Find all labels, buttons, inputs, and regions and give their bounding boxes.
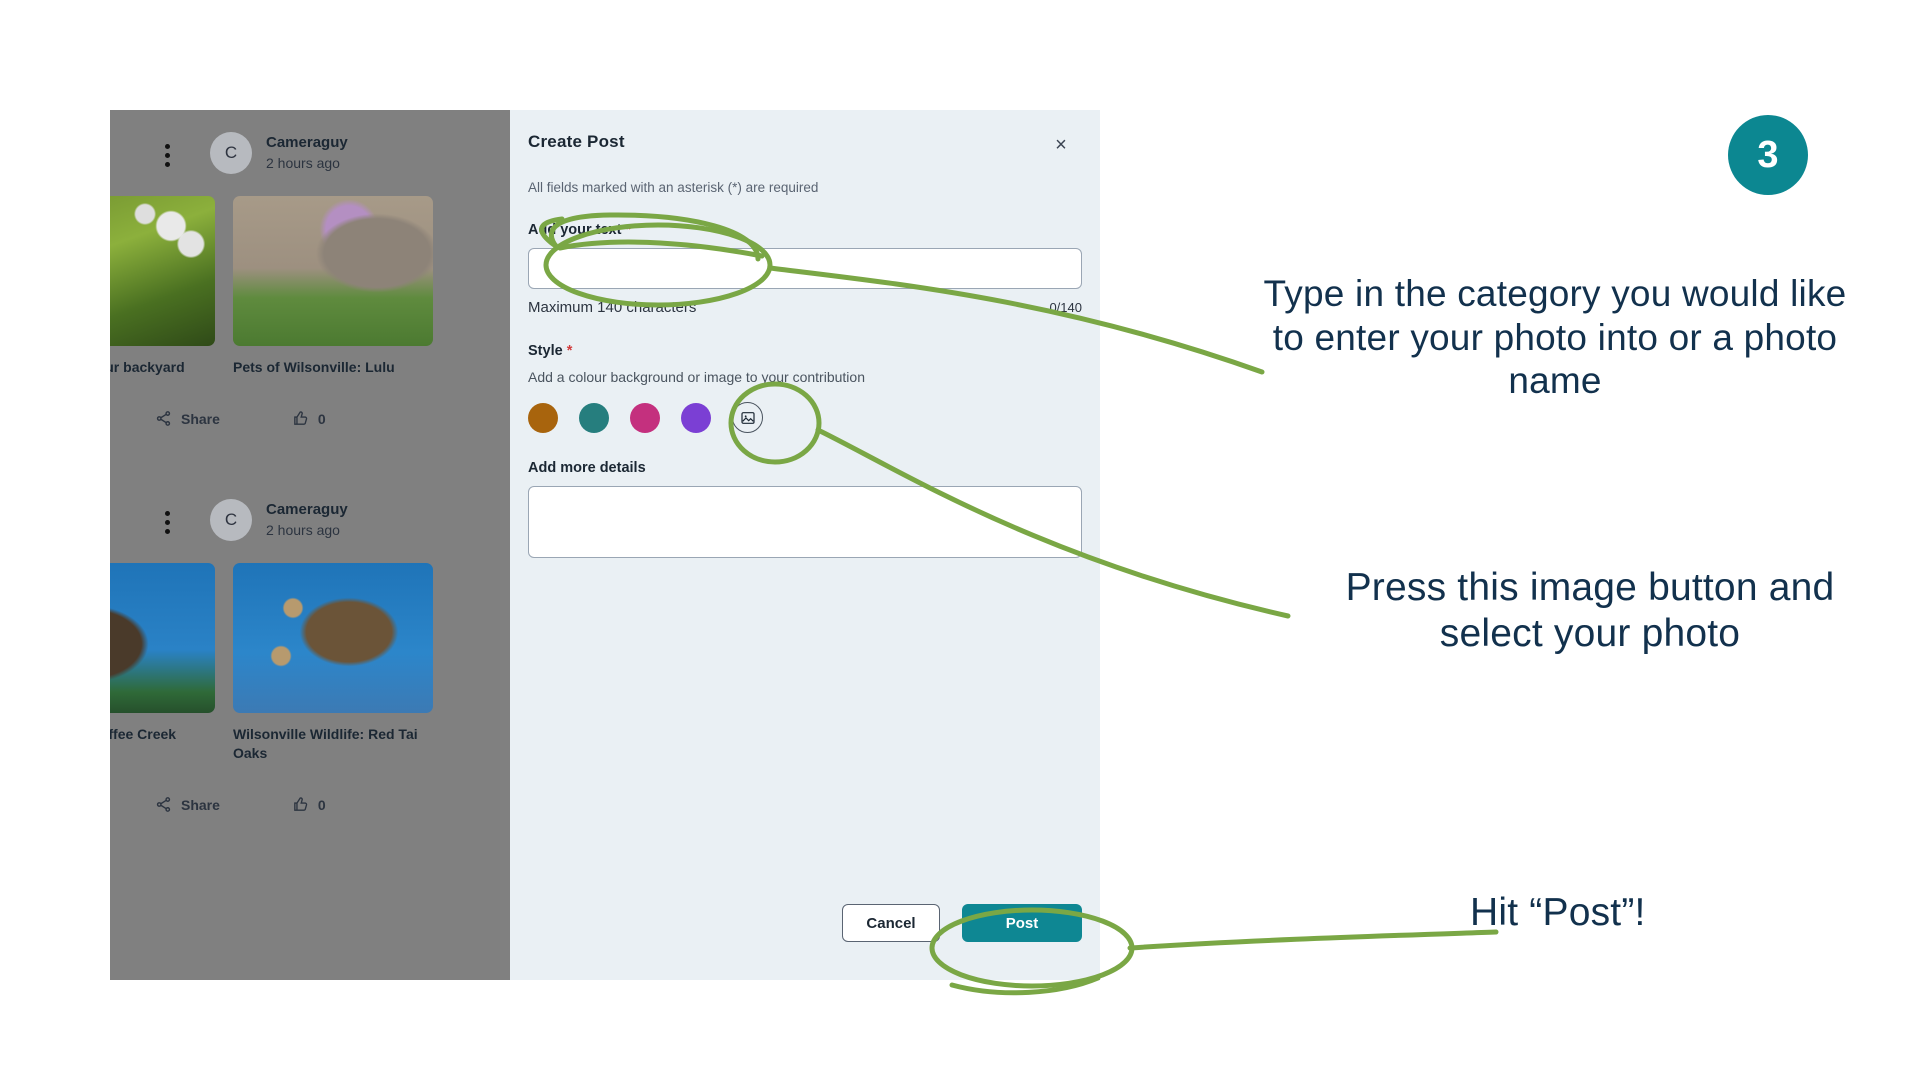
post-card-title: ers Hawk in our backyard [110, 358, 215, 377]
required-asterisk: * [625, 222, 631, 238]
text-field-label: Add your text * [528, 222, 1082, 238]
post-button[interactable]: Post [962, 904, 1082, 942]
share-button[interactable]: Share [155, 410, 220, 427]
character-counter: 0/140 [1049, 300, 1082, 315]
details-textarea[interactable] [528, 486, 1082, 558]
kebab-menu-icon[interactable] [165, 511, 170, 534]
background-feed: C Cameraguy 2 hours ago ers Hawk in our … [110, 110, 510, 980]
like-button[interactable]: 0 [292, 796, 326, 813]
text-field-label-text: Add your text [528, 222, 621, 238]
post-timestamp: 2 hours ago [266, 154, 348, 173]
kebab-menu-icon[interactable] [165, 144, 170, 167]
post-thumbnail [233, 563, 433, 713]
close-icon[interactable]: × [1048, 132, 1074, 158]
style-label-text: Style [528, 343, 563, 359]
avatar: C [210, 132, 252, 174]
swatch-teal[interactable] [579, 403, 609, 433]
post-author: Cameraguy [266, 133, 348, 153]
cancel-button[interactable]: Cancel [842, 904, 940, 942]
leader-line-3 [1130, 932, 1496, 948]
post-timestamp: 2 hours ago [266, 521, 348, 540]
post-text-input[interactable] [528, 248, 1082, 289]
post-card[interactable]: ers Hawk in our backyard [110, 196, 215, 377]
post-author: Cameraguy [266, 500, 348, 520]
like-count: 0 [318, 797, 326, 813]
image-upload-button[interactable] [732, 402, 763, 433]
style-swatch-group [528, 402, 1082, 433]
post-card[interactable]: Pets of Wilsonville: Lulu [233, 196, 433, 377]
thumbs-up-icon [292, 410, 309, 427]
share-icon [155, 410, 172, 427]
post-card[interactable]: Wilsonville Wildlife: Red Tai Oaks [233, 563, 433, 763]
post-card-title: Eagle near Coffee Creek [110, 725, 215, 744]
screenshot-root: C Cameraguy 2 hours ago ers Hawk in our … [0, 0, 1920, 1080]
like-button[interactable]: 0 [292, 410, 326, 427]
annotation-text-3: Hit “Post”! [1470, 890, 1790, 936]
style-description: Add a colour background or image to your… [528, 369, 1082, 385]
swatch-magenta[interactable] [630, 403, 660, 433]
share-label: Share [181, 797, 220, 813]
like-count: 0 [318, 411, 326, 427]
swatch-purple[interactable] [681, 403, 711, 433]
avatar: C [210, 499, 252, 541]
image-icon [740, 410, 756, 426]
share-icon [155, 796, 172, 813]
feed-post: C Cameraguy 2 hours ago Eagle near Coffe… [110, 477, 510, 825]
step-badge: 3 [1728, 115, 1808, 195]
post-card[interactable]: Eagle near Coffee Creek [110, 563, 215, 763]
thumbs-up-icon [292, 796, 309, 813]
annotation-text-2: Press this image button and select your … [1290, 565, 1890, 657]
text-field-helper: Maximum 140 characters [528, 299, 696, 316]
dialog-title: Create Post [528, 132, 625, 152]
share-label: Share [181, 411, 220, 427]
post-thumbnail [233, 196, 433, 346]
post-thumbnail [110, 563, 215, 713]
required-fields-note: All fields marked with an asterisk (*) a… [528, 180, 1082, 195]
post-card-title: Wilsonville Wildlife: Red Tai Oaks [233, 725, 433, 763]
required-asterisk: * [567, 343, 573, 359]
post-card-title: Pets of Wilsonville: Lulu [233, 358, 433, 377]
details-label: Add more details [528, 460, 1082, 476]
post-thumbnail [110, 196, 215, 346]
create-post-dialog: Create Post × All fields marked with an … [510, 110, 1100, 980]
share-button[interactable]: Share [155, 796, 220, 813]
style-label: Style * [528, 343, 1082, 359]
feed-post: C Cameraguy 2 hours ago ers Hawk in our … [110, 110, 510, 439]
swatch-brown[interactable] [528, 403, 558, 433]
annotation-text-1: Type in the category you would like to e… [1255, 272, 1855, 403]
